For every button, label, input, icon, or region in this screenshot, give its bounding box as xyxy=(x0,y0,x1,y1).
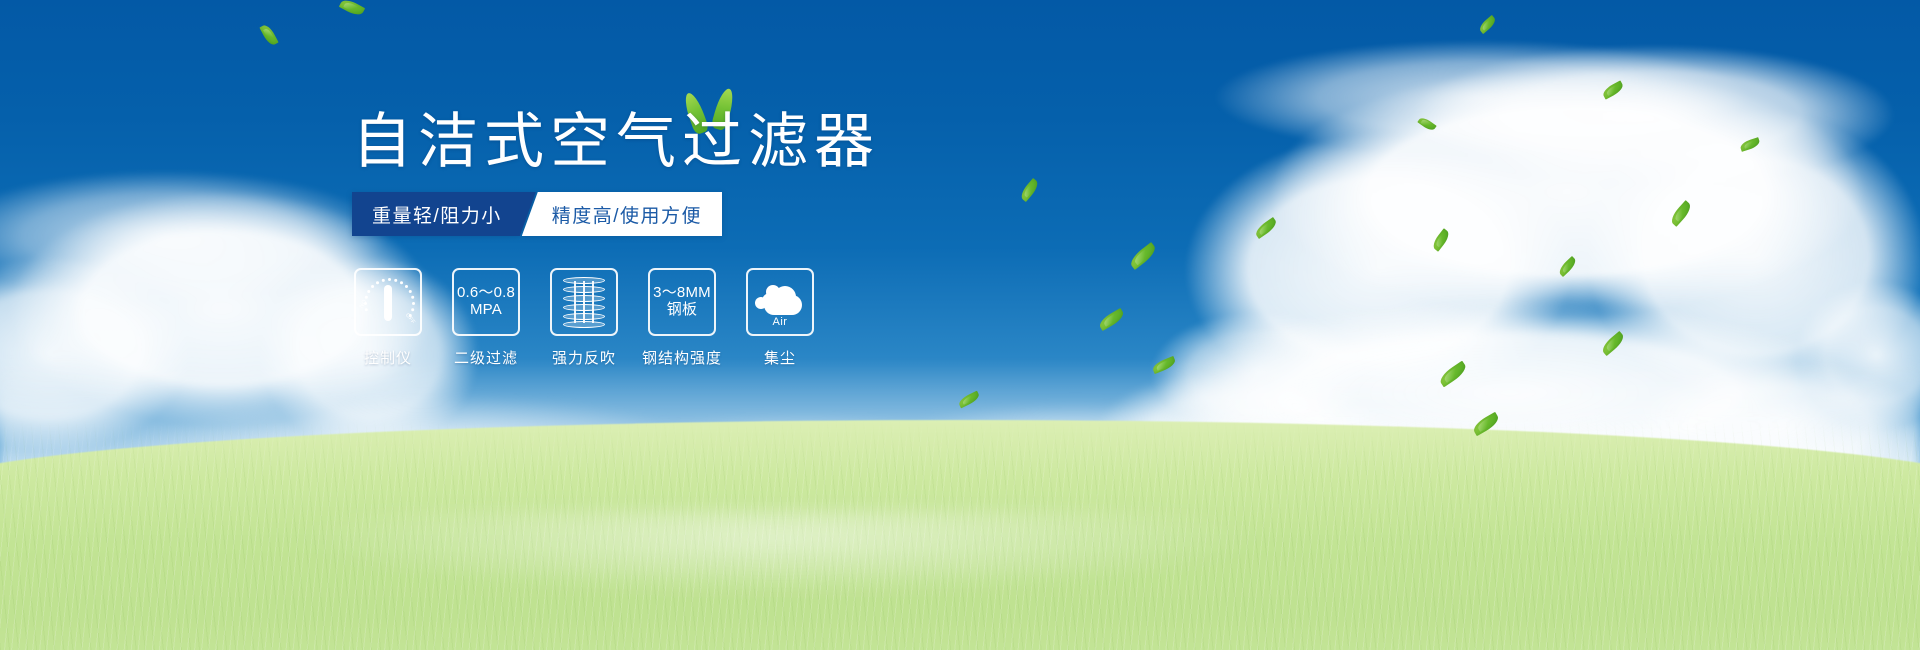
feature-item-two-stage-filter: 0.6～0.8 MPA 二级过滤 xyxy=(450,268,522,368)
tagline-primary: 重量轻/阻力小 xyxy=(352,192,536,236)
hero-banner: 自洁式空气过滤器 重量轻/阻力小 精度高/使用方便 xyxy=(0,0,1920,650)
feature-label: 控制仪 xyxy=(364,347,412,368)
feature-icon-box: NO OFF xyxy=(354,268,422,336)
air-label: Air xyxy=(754,316,806,328)
feature-icon-box: 0.6～0.8 MPA xyxy=(452,268,520,336)
filter-cartridge-icon xyxy=(563,277,605,327)
feature-label: 强力反吹 xyxy=(552,347,616,368)
page-title-row: 自洁式空气过滤器 xyxy=(352,112,880,172)
steel-material: 钢板 xyxy=(653,302,711,319)
steel-plate-text-icon: 3～8MM 钢板 xyxy=(653,285,711,319)
pressure-unit: MPA xyxy=(457,302,515,319)
feature-label: 钢结构强度 xyxy=(642,347,722,368)
gauge-label-off: OFF xyxy=(404,312,416,325)
cloud-air-icon: Air xyxy=(754,279,806,325)
feature-item-steel-strength: 3～8MM 钢板 钢结构强度 xyxy=(646,268,718,368)
feature-item-dust-collection: Air 集尘 xyxy=(744,268,816,368)
feature-list: NO OFF 控制仪 0.6～0.8 MPA 二级过滤 xyxy=(352,268,816,368)
tagline-bar: 重量轻/阻力小 精度高/使用方便 xyxy=(352,192,722,236)
feature-icon-box: Air xyxy=(746,268,814,336)
feature-label: 集尘 xyxy=(764,347,796,368)
pressure-value: 0.6～0.8 xyxy=(457,285,515,302)
gauge-icon: NO OFF xyxy=(360,276,416,328)
feature-icon-box: 3～8MM 钢板 xyxy=(648,268,716,336)
gauge-needle xyxy=(384,285,392,321)
page-title: 自洁式空气过滤器 xyxy=(352,112,880,172)
feature-item-controller: NO OFF 控制仪 xyxy=(352,268,424,368)
feature-item-back-blow: 强力反吹 xyxy=(548,268,620,368)
tagline-secondary: 精度高/使用方便 xyxy=(522,192,722,236)
feature-icon-box xyxy=(550,268,618,336)
feature-label: 二级过滤 xyxy=(454,347,518,368)
steel-thickness: 3～8MM xyxy=(653,285,711,302)
pressure-text-icon: 0.6～0.8 MPA xyxy=(457,285,515,319)
